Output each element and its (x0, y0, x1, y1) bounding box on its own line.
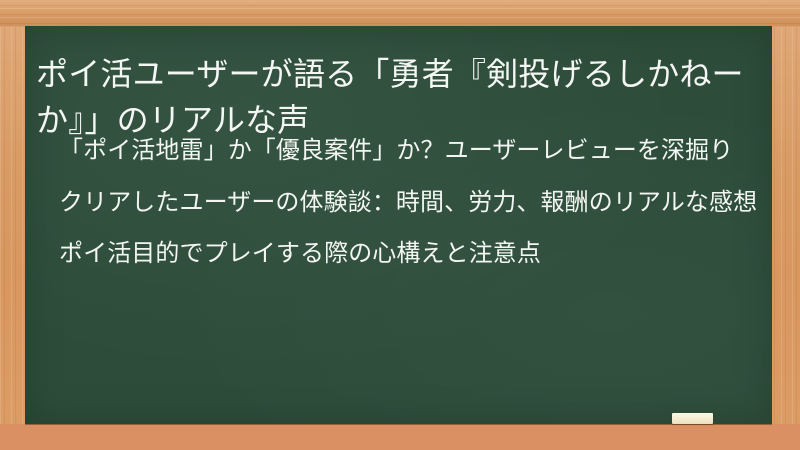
bullet-list: 「ポイ活地雷」か「優良案件」か？ユーザーレビューを深掘り クリアしたユーザーの体… (59, 134, 759, 272)
page-title: ポイ活ユーザーが語る「勇者『剣投げるしかねーか』」のリアルな声 (36, 52, 756, 143)
list-item: 「ポイ活地雷」か「優良案件」か？ユーザーレビューを深掘り (59, 134, 759, 169)
blackboard-surface: ポイ活ユーザーが語る「勇者『剣投げるしかねーか』」のリアルな声 「ポイ活地雷」か… (25, 26, 772, 424)
wood-frame-top-rail (0, 0, 800, 27)
slide-root: ポイ活ユーザーが語る「勇者『剣投げるしかねーか』」のリアルな声 「ポイ活地雷」か… (0, 0, 800, 450)
list-item: ポイ活目的でプレイする際の心構えと注意点 (59, 237, 759, 272)
wood-frame-bottom-ledge (0, 424, 800, 450)
chalk-stick-icon (672, 413, 713, 424)
list-item: クリアしたユーザーの体験談：時間、労力、報酬のリアルな感想 (59, 186, 759, 221)
